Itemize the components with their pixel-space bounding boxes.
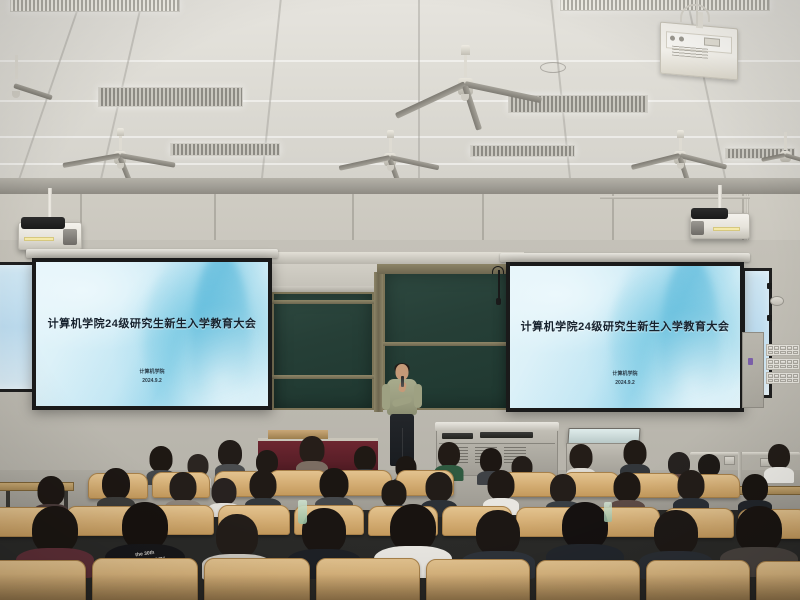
ceiling xyxy=(0,0,800,185)
wall-sensor-box xyxy=(770,296,784,306)
seat[interactable] xyxy=(756,561,800,600)
ceiling-fan xyxy=(380,45,550,105)
presenter-arm-right xyxy=(414,384,422,408)
ceiling-beam xyxy=(0,178,800,194)
ceiling-light-panel xyxy=(170,143,280,156)
ceiling-fan xyxy=(60,128,180,173)
microphone xyxy=(401,376,404,387)
chalkboard-panel-left xyxy=(272,292,374,410)
ceiling-fan xyxy=(620,130,740,175)
wall-switch-panel[interactable] xyxy=(766,372,800,384)
lecture-hall-photo: 计算机学院24级研究生新生入学教育大会 计算机学院 2024.9.2 计算机学院… xyxy=(0,0,800,600)
ceiling-light-panel xyxy=(10,0,180,12)
ceiling-speaker-unit xyxy=(660,22,738,81)
ceiling-light-panel xyxy=(470,145,575,157)
water-bottle xyxy=(298,500,307,524)
ceiling-fan xyxy=(745,132,800,172)
ceiling-light-panel xyxy=(560,0,770,11)
ceiling-fan xyxy=(0,55,52,105)
electrical-cabinet[interactable] xyxy=(742,332,764,408)
slide-title: 计算机学院24级研究生新生入学教育大会 xyxy=(510,318,740,334)
wall-switch-panel[interactable] xyxy=(766,344,800,356)
seat-row-near xyxy=(0,556,800,600)
projector-right xyxy=(690,213,750,239)
seat[interactable] xyxy=(92,558,198,600)
wall-conduit-h xyxy=(600,196,750,199)
slide-date: 2024.9.2 xyxy=(510,380,740,386)
board-cable xyxy=(498,270,500,300)
board-cable-weight xyxy=(496,298,501,305)
wall-switch-panel[interactable] xyxy=(766,358,800,370)
seat[interactable] xyxy=(0,560,86,600)
ceiling-light-panel xyxy=(98,87,243,107)
ceiling-fan xyxy=(330,130,450,175)
left-projection-screen[interactable]: 计算机学院24级研究生新生入学教育大会 计算机学院 2024.9.2 xyxy=(32,258,272,410)
presenter-arm-left xyxy=(382,384,390,410)
slide-org: 计算机学院 xyxy=(510,370,740,377)
slide-org: 计算机学院 xyxy=(36,368,268,375)
seat[interactable] xyxy=(536,560,640,600)
projector-left xyxy=(18,222,82,250)
seat[interactable] xyxy=(204,558,310,600)
left-window xyxy=(0,262,36,392)
board-cable-hook xyxy=(492,266,504,274)
seat[interactable] xyxy=(426,559,530,600)
slide-title: 计算机学院24级研究生新生入学教育大会 xyxy=(36,315,268,331)
status-led xyxy=(748,358,753,365)
slide-date: 2024.9.2 xyxy=(36,378,268,384)
board-soffit xyxy=(262,252,524,264)
right-projection-screen[interactable]: 计算机学院24级研究生新生入学教育大会 计算机学院 2024.9.2 xyxy=(506,262,744,412)
water-bottle xyxy=(604,502,612,522)
seat[interactable] xyxy=(316,558,420,600)
seat[interactable] xyxy=(646,560,750,600)
